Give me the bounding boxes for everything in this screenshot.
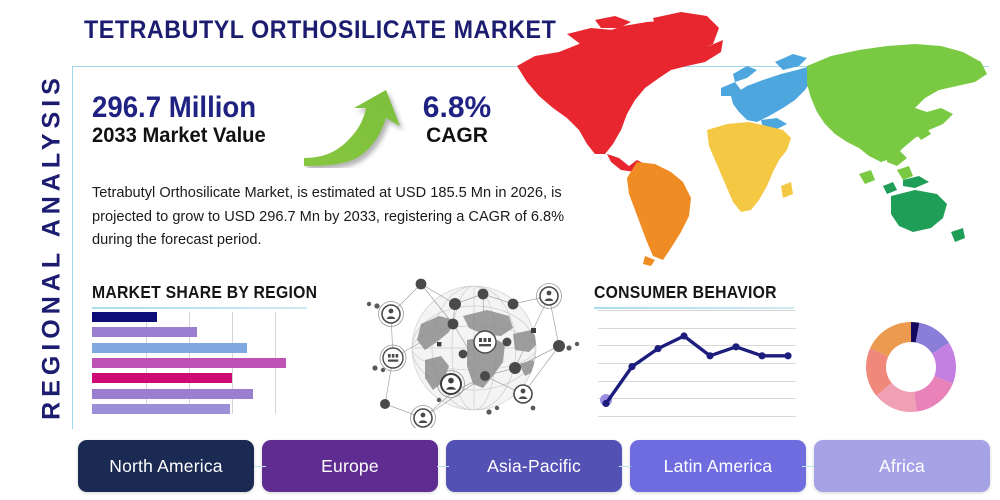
bar	[92, 389, 253, 399]
bar-chart-bars	[92, 312, 307, 414]
data-point	[680, 332, 687, 339]
donut-chart-svg	[852, 308, 970, 426]
section-divider	[594, 307, 794, 309]
kpi-market-value-number: 296.7 Million	[92, 92, 258, 124]
kpi-market-value: 296.7 Million 2033 Market Value	[92, 92, 273, 148]
data-point	[784, 352, 791, 359]
market-share-section-header: MARKET SHARE BY REGION	[92, 282, 307, 309]
region-tabs[interactable]: North AmericaEuropeAsia-PacificLatin Ame…	[78, 440, 990, 492]
bar	[92, 312, 157, 322]
tab-connector	[619, 466, 631, 467]
donut-chart	[852, 308, 970, 426]
consumer-behavior-title: CONSUMER BEHAVIOR	[594, 282, 774, 303]
bar	[92, 327, 197, 337]
region-tab-latin-america[interactable]: Latin America	[630, 440, 806, 492]
data-point	[602, 400, 609, 407]
region-tab-asia-pacific[interactable]: Asia-Pacific	[446, 440, 622, 492]
kpi-market-value-label: 2033 Market Value	[92, 124, 266, 148]
region-tab-africa[interactable]: Africa	[814, 440, 990, 492]
region-tab-europe[interactable]: Europe	[262, 440, 438, 492]
rail-label: REGIONAL ANALYSIS	[38, 47, 67, 447]
bar	[92, 358, 286, 368]
market-share-title: MARKET SHARE BY REGION	[92, 282, 286, 303]
regional-analysis-rail: REGIONAL ANALYSIS	[0, 0, 72, 500]
line-chart-series	[598, 310, 796, 416]
section-divider	[92, 307, 307, 309]
gridline	[598, 416, 796, 417]
data-point	[654, 345, 661, 352]
donut-slice	[914, 376, 953, 411]
bar	[92, 343, 247, 353]
global-network-globe-icon	[363, 272, 585, 428]
market-share-bar-chart	[92, 312, 307, 414]
tab-connector	[437, 466, 449, 467]
region-tab-north-america[interactable]: North America	[78, 440, 254, 492]
bar	[92, 373, 232, 383]
page-title: TETRABUTYL ORTHOSILICATE MARKET	[84, 16, 556, 45]
data-point	[732, 343, 739, 350]
consumer-behavior-section-header: CONSUMER BEHAVIOR	[594, 282, 794, 309]
kpi-row: 296.7 Million 2033 Market Value 6.8%	[92, 88, 512, 168]
growth-arrow-icon	[302, 88, 412, 168]
consumer-behavior-line-chart	[598, 310, 796, 416]
world-map-icon	[495, 4, 1000, 272]
data-point	[628, 363, 635, 370]
tab-connector	[802, 466, 814, 467]
data-point	[758, 352, 765, 359]
data-point	[706, 352, 713, 359]
bar	[92, 404, 230, 414]
tab-connector	[254, 466, 266, 467]
